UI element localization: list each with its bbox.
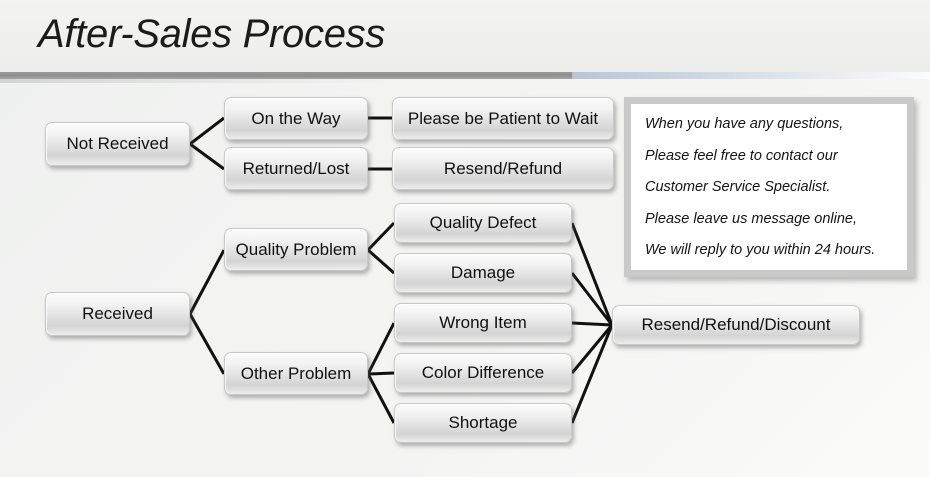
node-label: Resend/Refund/Discount (641, 316, 830, 334)
contact-note-text: When you have any questions, Please feel… (631, 104, 907, 258)
node-please-be-patient-to-wait[interactable]: Please be Patient to Wait (392, 97, 614, 140)
edge-quality-problem-damage (368, 250, 394, 273)
node-returned-lost[interactable]: Returned/Lost (224, 147, 368, 190)
node-label: Color Difference (422, 364, 545, 382)
page-title: After-Sales Process (38, 12, 385, 57)
header-divider-shadow (0, 79, 390, 83)
node-label: Damage (451, 264, 515, 282)
node-damage[interactable]: Damage (394, 253, 572, 293)
edge-damage-final (572, 273, 612, 325)
node-not-received[interactable]: Not Received (45, 122, 190, 166)
edge-quality-defect-final (572, 223, 612, 325)
edge-shortage-final (572, 325, 612, 423)
note-line: Please feel free to contact our (645, 149, 895, 164)
node-quality-defect[interactable]: Quality Defect (394, 203, 572, 243)
node-label: On the Way (251, 110, 340, 128)
header-divider-left (0, 72, 572, 79)
note-line: Customer Service Specialist. (645, 180, 895, 195)
slide-canvas: After-Sales Process (0, 0, 930, 477)
node-label: Received (82, 305, 153, 323)
edge-color-difference-final (572, 325, 612, 373)
node-other-problem[interactable]: Other Problem (224, 352, 368, 395)
node-color-difference[interactable]: Color Difference (394, 353, 572, 393)
contact-note-box: When you have any questions, Please feel… (624, 97, 914, 277)
node-label: Shortage (449, 414, 518, 432)
node-label: Other Problem (241, 365, 352, 383)
edge-not-received-on-the-way (190, 118, 224, 144)
node-received[interactable]: Received (45, 292, 190, 336)
note-line: We will reply to you within 24 hours. (645, 243, 895, 258)
node-label: Wrong Item (439, 314, 527, 332)
node-resend-refund-discount[interactable]: Resend/Refund/Discount (612, 305, 860, 345)
header-divider-right (572, 72, 930, 79)
node-label: Quality Defect (430, 214, 537, 232)
node-label: Quality Problem (236, 241, 357, 259)
edge-received-other-problem (190, 314, 224, 374)
edge-quality-problem-quality-defect (368, 223, 394, 250)
node-shortage[interactable]: Shortage (394, 403, 572, 443)
node-wrong-item[interactable]: Wrong Item (394, 303, 572, 343)
edge-other-problem-wrong-item (368, 323, 394, 374)
node-on-the-way[interactable]: On the Way (224, 97, 368, 140)
edge-wrong-item-final (572, 323, 612, 325)
node-label: Returned/Lost (243, 160, 350, 178)
node-quality-problem[interactable]: Quality Problem (224, 228, 368, 271)
note-line: Please leave us message online, (645, 212, 895, 227)
edge-other-problem-shortage (368, 374, 394, 423)
node-label: Please be Patient to Wait (408, 110, 598, 128)
node-label: Not Received (66, 135, 168, 153)
slide-header: After-Sales Process (0, 0, 930, 78)
node-label: Resend/Refund (444, 160, 562, 178)
edge-not-received-returned-lost (190, 144, 224, 169)
edge-other-problem-color-difference (368, 373, 394, 374)
node-resend-refund[interactable]: Resend/Refund (392, 147, 614, 190)
edge-received-quality-problem (190, 250, 224, 314)
note-line: When you have any questions, (645, 117, 895, 132)
